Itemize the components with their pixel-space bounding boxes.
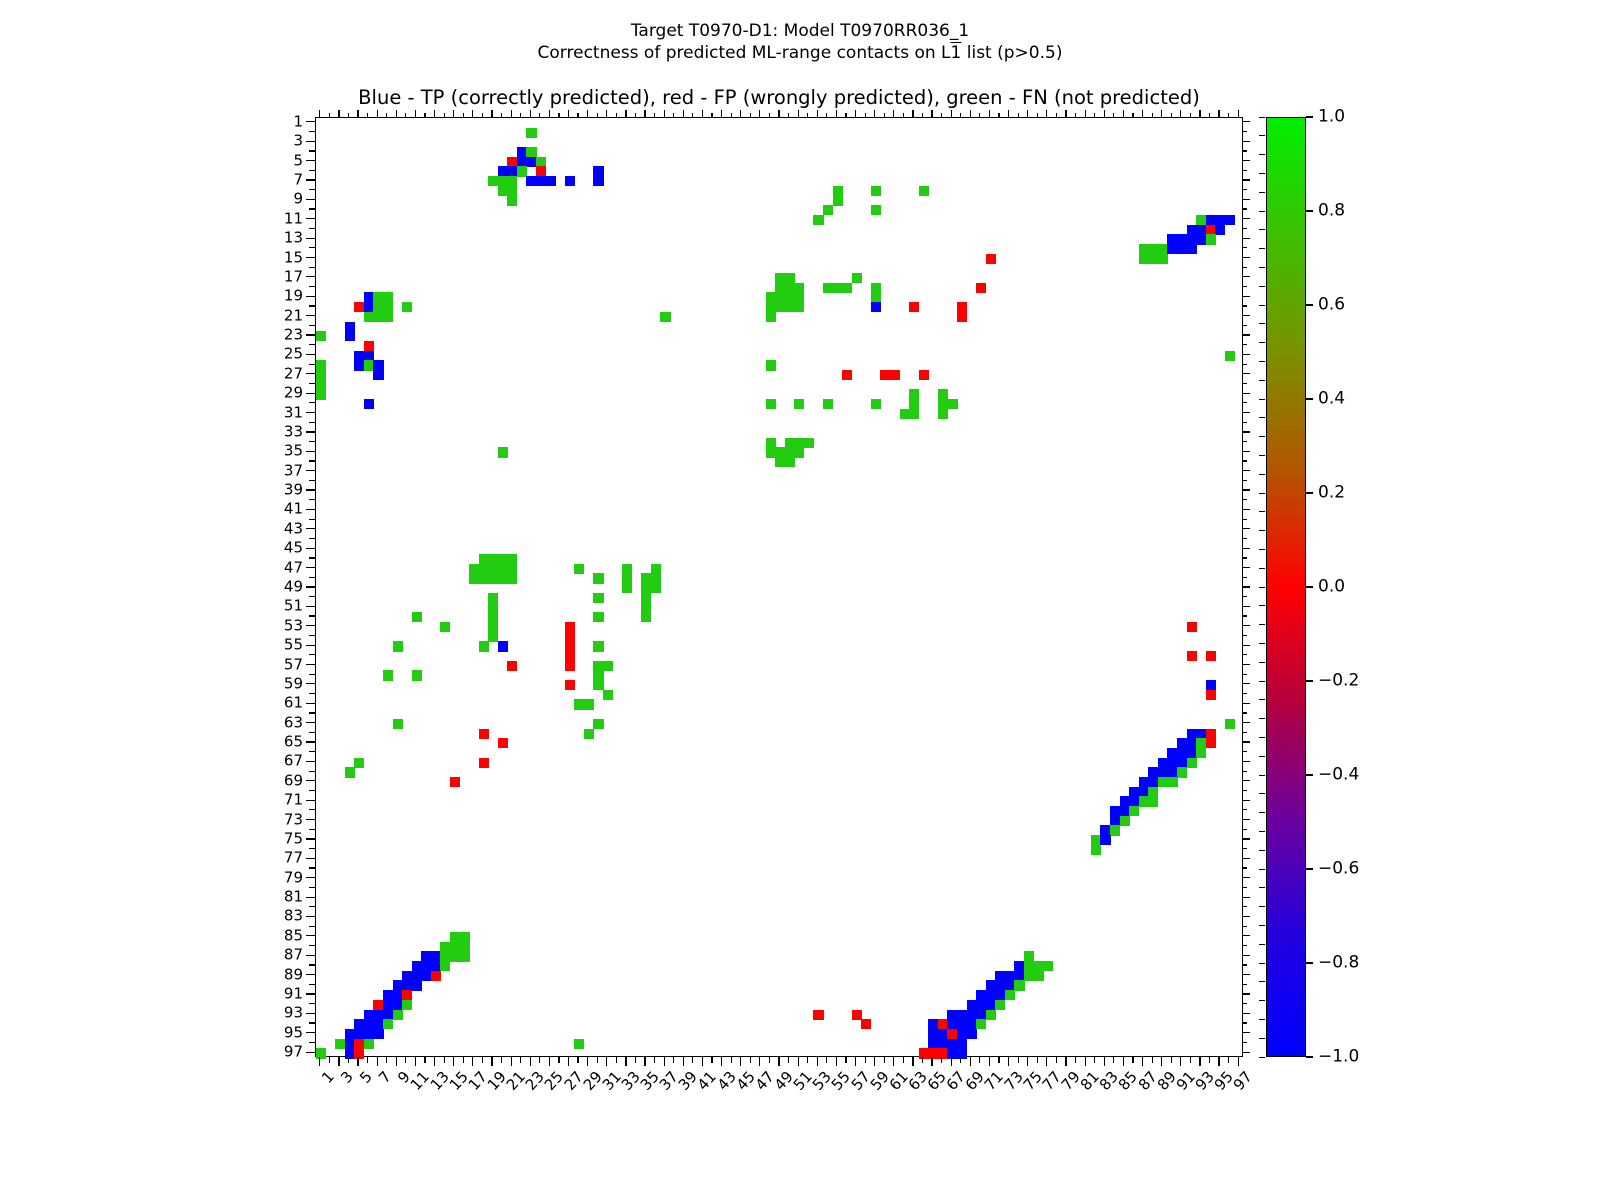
contact-cell-fn xyxy=(766,312,776,322)
contact-cell-fp xyxy=(507,661,517,671)
x-tick-top-28 xyxy=(577,113,578,117)
y-tick-right-23 xyxy=(1243,334,1250,335)
x-tick-top-34 xyxy=(635,113,636,117)
contact-cell-fp xyxy=(565,680,575,690)
contact-cell-fn xyxy=(1148,796,1158,806)
x-tick-top-94 xyxy=(1209,113,1210,117)
colorbar-minor-tick-6 xyxy=(1259,173,1265,174)
contact-cell-fp xyxy=(976,283,986,293)
contact-cell-tp xyxy=(1187,244,1197,254)
y-tick-right-11 xyxy=(1243,218,1250,219)
x-tick-top-37 xyxy=(664,110,665,117)
y-tick-right-45 xyxy=(1243,548,1250,549)
y-tick-label-65: 65 xyxy=(284,735,303,750)
x-tick-top-9 xyxy=(396,110,397,117)
y-tick-53 xyxy=(306,625,315,626)
y-tick-label-21: 21 xyxy=(284,308,303,323)
y-tick-1 xyxy=(306,121,315,122)
y-tick-61 xyxy=(306,703,315,704)
contact-cell-tp xyxy=(938,1039,948,1049)
y-tick-right-50 xyxy=(1243,596,1247,597)
contact-cell-fn xyxy=(460,951,470,961)
x-tick-top-30 xyxy=(597,113,598,117)
y-tick-6 xyxy=(309,170,315,171)
x-tick-top-51 xyxy=(798,110,799,117)
x-tick-62 xyxy=(903,1057,904,1063)
contact-cell-tp xyxy=(345,322,355,332)
contact-cell-tp xyxy=(957,1039,967,1049)
y-tick-52 xyxy=(309,615,315,616)
x-tick-25 xyxy=(549,1057,550,1066)
y-tick-41 xyxy=(306,509,315,510)
x-tick-20 xyxy=(501,1057,502,1063)
contact-cell-fn xyxy=(1167,777,1177,787)
y-tick-15 xyxy=(306,257,315,258)
x-tick-top-21 xyxy=(511,110,512,117)
x-tick-1 xyxy=(319,1057,320,1066)
x-tick-top-10 xyxy=(405,113,406,117)
y-tick-label-91: 91 xyxy=(284,987,303,1002)
x-tick-top-74 xyxy=(1018,113,1019,117)
x-tick-top-48 xyxy=(769,113,770,117)
colorbar-minor-tick-58 xyxy=(1259,662,1265,663)
x-tick-93 xyxy=(1199,1057,1200,1066)
x-tick-top-20 xyxy=(501,113,502,117)
contact-cell-fp xyxy=(354,1048,364,1058)
y-tick-right-40 xyxy=(1243,499,1247,500)
contact-cell-fn xyxy=(976,1019,986,1029)
x-tick-top-88 xyxy=(1152,113,1153,117)
y-tick-right-63 xyxy=(1243,722,1250,723)
y-tick-right-69 xyxy=(1243,780,1250,781)
colorbar-tick-5 xyxy=(1306,586,1313,587)
y-tick-right-34 xyxy=(1243,441,1247,442)
y-tick-76 xyxy=(309,848,315,849)
contact-cell-fn xyxy=(345,767,355,777)
x-tick-top-79 xyxy=(1065,110,1066,117)
x-tick-60 xyxy=(884,1057,885,1063)
y-tick-right-53 xyxy=(1243,625,1250,626)
x-tick-top-97 xyxy=(1238,110,1239,117)
contact-cell-tp xyxy=(957,1048,967,1058)
colorbar-tick-label-8: −0.6 xyxy=(1318,861,1359,878)
contact-cell-fn xyxy=(938,399,948,409)
x-tick-top-27 xyxy=(568,110,569,117)
x-tick-55 xyxy=(836,1057,837,1066)
x-tick-9 xyxy=(396,1057,397,1066)
y-tick-36 xyxy=(309,460,315,461)
contact-cell-fn xyxy=(479,554,489,564)
contact-cell-fn xyxy=(479,641,489,651)
y-tick-right-79 xyxy=(1243,877,1250,878)
contact-cell-fn xyxy=(641,583,651,593)
contact-cell-fn xyxy=(1120,816,1130,826)
y-tick-46 xyxy=(309,557,315,558)
y-tick-57 xyxy=(306,664,315,665)
x-tick-top-78 xyxy=(1056,113,1057,117)
contact-cell-fn xyxy=(383,670,393,680)
x-tick-top-85 xyxy=(1123,110,1124,117)
y-tick-right-86 xyxy=(1243,945,1247,946)
y-tick-87 xyxy=(306,955,315,956)
contact-cell-tp xyxy=(1215,225,1225,235)
y-tick-label-97: 97 xyxy=(284,1045,303,1060)
colorbar-minor-tick-4 xyxy=(1259,154,1265,155)
x-tick-38 xyxy=(673,1057,674,1063)
contact-cell-fn xyxy=(1014,980,1024,990)
y-tick-38 xyxy=(309,480,315,481)
y-tick-right-27 xyxy=(1243,373,1250,374)
x-tick-96 xyxy=(1228,1057,1229,1063)
contact-cell-fn xyxy=(488,593,498,603)
contact-cell-fn xyxy=(871,399,881,409)
contact-cell-fn xyxy=(622,564,632,574)
y-tick-label-57: 57 xyxy=(284,657,303,672)
contact-cell-fn xyxy=(584,699,594,709)
x-tick-top-38 xyxy=(673,113,674,117)
x-tick-top-39 xyxy=(683,110,684,117)
colorbar-minor-tick-22 xyxy=(1259,323,1265,324)
colorbar-minor-tick-12 xyxy=(1259,229,1265,230)
contact-cell-fn xyxy=(383,1019,393,1029)
x-tick-11 xyxy=(415,1057,416,1066)
colorbar-minor-tick-98 xyxy=(1259,1038,1265,1039)
x-tick-79 xyxy=(1065,1057,1066,1066)
x-tick-30 xyxy=(597,1057,598,1063)
colorbar-minor-tick-28 xyxy=(1259,380,1265,381)
contact-cell-fn xyxy=(603,690,613,700)
y-tick-54 xyxy=(309,635,315,636)
contact-cell-fn xyxy=(383,302,393,312)
x-tick-top-13 xyxy=(434,110,435,117)
contact-cell-fn xyxy=(440,942,450,952)
y-tick-20 xyxy=(309,305,315,306)
contact-cell-fn xyxy=(593,670,603,680)
y-tick-39 xyxy=(306,489,315,490)
contact-cell-fn xyxy=(1043,961,1053,971)
figure-canvas: Target T0970-D1: Model T0970RR036_1 Corr… xyxy=(0,0,1600,1200)
colorbar-minor-tick-78 xyxy=(1259,850,1265,851)
y-tick-label-15: 15 xyxy=(284,250,303,265)
colorbar-tick-3 xyxy=(1306,398,1313,399)
y-tick-right-10 xyxy=(1243,208,1247,209)
figure-title-line2: Correctness of predicted ML-range contac… xyxy=(0,42,1600,64)
y-tick-label-13: 13 xyxy=(284,231,303,246)
colorbar-minor-tick-2 xyxy=(1259,135,1265,136)
contact-cell-fp xyxy=(565,661,575,671)
y-tick-12 xyxy=(309,228,315,229)
title-line2-overline-L: 1 xyxy=(951,43,962,63)
y-tick-label-51: 51 xyxy=(284,599,303,614)
y-tick-right-21 xyxy=(1243,315,1250,316)
x-tick-top-93 xyxy=(1199,110,1200,117)
contact-cell-fn xyxy=(1158,254,1168,264)
x-tick-top-53 xyxy=(817,110,818,117)
contact-cell-fn xyxy=(1129,806,1139,816)
y-tick-right-30 xyxy=(1243,402,1247,403)
contact-cell-fn xyxy=(479,564,489,574)
contact-cell-fn xyxy=(775,283,785,293)
x-tick-top-70 xyxy=(979,113,980,117)
y-tick-label-73: 73 xyxy=(284,812,303,827)
y-tick-right-82 xyxy=(1243,906,1247,907)
colorbar-minor-tick-40 xyxy=(1259,493,1265,494)
y-tick-right-48 xyxy=(1243,577,1247,578)
contact-cell-tp xyxy=(364,351,374,361)
y-tick-right-93 xyxy=(1243,1013,1250,1014)
contact-cell-fn xyxy=(393,1010,403,1020)
y-tick-right-17 xyxy=(1243,276,1250,277)
contact-cell-fp xyxy=(919,370,929,380)
contact-cell-tp xyxy=(1177,234,1187,244)
colorbar-tick-6 xyxy=(1306,680,1313,681)
x-tick-top-77 xyxy=(1046,110,1047,117)
contact-cell-fn xyxy=(507,196,517,206)
contact-cell-tp xyxy=(1100,835,1110,845)
contact-cell-fn xyxy=(766,360,776,370)
x-tick-top-16 xyxy=(463,113,464,117)
x-tick-39 xyxy=(683,1057,684,1066)
x-tick-top-35 xyxy=(644,110,645,117)
y-tick-right-39 xyxy=(1243,489,1250,490)
y-tick-right-66 xyxy=(1243,751,1247,752)
contact-cell-tp xyxy=(967,1029,977,1039)
x-tick-8 xyxy=(386,1057,387,1063)
contact-cell-fp xyxy=(536,166,546,176)
y-tick-right-7 xyxy=(1243,179,1250,180)
y-tick-14 xyxy=(309,247,315,248)
contact-cell-tp xyxy=(1177,748,1187,758)
y-tick-label-93: 93 xyxy=(284,1006,303,1021)
y-tick-right-60 xyxy=(1243,693,1247,694)
y-tick-right-3 xyxy=(1243,141,1250,142)
colorbar-minor-tick-66 xyxy=(1259,737,1265,738)
contact-cell-fn xyxy=(794,283,804,293)
x-tick-15 xyxy=(453,1057,454,1066)
contact-cell-fn xyxy=(507,573,517,583)
x-tick-76 xyxy=(1037,1057,1038,1063)
contact-cell-fn xyxy=(383,312,393,322)
x-tick-top-43 xyxy=(721,110,722,117)
y-tick-right-71 xyxy=(1243,800,1250,801)
colorbar-minor-tick-94 xyxy=(1259,1000,1265,1001)
x-tick-54 xyxy=(826,1057,827,1063)
contact-cell-fn xyxy=(938,409,948,419)
contact-cell-fn xyxy=(641,603,651,613)
contact-cell-fp xyxy=(507,157,517,167)
x-tick-52 xyxy=(807,1057,808,1063)
colorbar-tick-1 xyxy=(1306,210,1313,211)
y-tick-label-41: 41 xyxy=(284,502,303,517)
contact-cell-fn xyxy=(1206,234,1216,244)
contact-cell-fn xyxy=(393,641,403,651)
y-tick-label-59: 59 xyxy=(284,676,303,691)
x-tick-72 xyxy=(998,1057,999,1063)
x-tick-2 xyxy=(329,1057,330,1063)
colorbar-minor-tick-10 xyxy=(1259,211,1265,212)
contact-cell-fn xyxy=(995,1000,1005,1010)
contact-cell-fn xyxy=(775,292,785,302)
y-tick-right-91 xyxy=(1243,993,1250,994)
contact-cell-fp xyxy=(565,632,575,642)
contact-cell-fn xyxy=(593,573,603,583)
y-tick-label-27: 27 xyxy=(284,366,303,381)
y-tick-78 xyxy=(309,867,315,868)
colorbar-tick-label-10: −1.0 xyxy=(1318,1049,1359,1066)
x-tick-43 xyxy=(721,1057,722,1066)
colorbar-tick-label-3: 0.4 xyxy=(1318,391,1345,408)
contact-cell-fn xyxy=(641,612,651,622)
y-tick-4 xyxy=(309,150,315,151)
colorbar-minor-tick-68 xyxy=(1259,756,1265,757)
x-tick-top-17 xyxy=(472,110,473,117)
y-tick-83 xyxy=(306,916,315,917)
contact-cell-fp xyxy=(479,729,489,739)
contact-cell-fn xyxy=(593,612,603,622)
y-tick-11 xyxy=(306,218,315,219)
y-tick-right-65 xyxy=(1243,741,1250,742)
contact-cell-fn xyxy=(1225,719,1235,729)
x-tick-23 xyxy=(530,1057,531,1066)
x-tick-61 xyxy=(893,1057,894,1066)
y-tick-right-25 xyxy=(1243,354,1250,355)
x-tick-87 xyxy=(1142,1057,1143,1066)
colorbar-minor-tick-38 xyxy=(1259,474,1265,475)
y-tick-right-28 xyxy=(1243,383,1247,384)
contact-cell-fn xyxy=(507,176,517,186)
contact-cell-tp xyxy=(1225,215,1235,225)
contact-cell-tp xyxy=(1005,980,1015,990)
y-tick-75 xyxy=(306,838,315,839)
contact-cell-fn xyxy=(766,438,776,448)
contact-cell-tp xyxy=(1110,806,1120,816)
x-tick-top-69 xyxy=(970,110,971,117)
contact-cell-fn xyxy=(651,583,661,593)
colorbar-minor-tick-82 xyxy=(1259,887,1265,888)
colorbar-minor-tick-34 xyxy=(1259,436,1265,437)
y-tick-right-36 xyxy=(1243,460,1247,461)
contact-cell-fn xyxy=(526,147,536,157)
colorbar-minor-tick-50 xyxy=(1259,587,1265,588)
x-tick-73 xyxy=(1008,1057,1009,1066)
y-tick-right-67 xyxy=(1243,761,1250,762)
contact-cell-tp xyxy=(412,980,422,990)
contact-map-plot[interactable] xyxy=(315,117,1243,1057)
y-tick-56 xyxy=(309,654,315,655)
contact-cell-fn xyxy=(813,215,823,225)
y-tick-label-45: 45 xyxy=(284,541,303,556)
x-tick-top-46 xyxy=(750,113,751,117)
contact-map-cells xyxy=(316,118,1242,1056)
contact-cell-fp xyxy=(1206,690,1216,700)
y-tick-right-95 xyxy=(1243,1032,1250,1033)
x-tick-top-72 xyxy=(998,113,999,117)
colorbar-tick-10 xyxy=(1306,1056,1313,1057)
x-tick-top-52 xyxy=(807,113,808,117)
y-tick-24 xyxy=(309,344,315,345)
y-tick-42 xyxy=(309,519,315,520)
y-tick-right-38 xyxy=(1243,480,1247,481)
contact-cell-fp xyxy=(450,777,460,787)
x-tick-78 xyxy=(1056,1057,1057,1063)
contact-cell-fn xyxy=(1225,351,1235,361)
x-tick-44 xyxy=(731,1057,732,1063)
y-tick-31 xyxy=(306,412,315,413)
figure-title: Target T0970-D1: Model T0970RR036_1 Corr… xyxy=(0,20,1600,64)
x-tick-top-23 xyxy=(530,110,531,117)
x-tick-top-5 xyxy=(357,110,358,117)
contact-cell-fn xyxy=(593,680,603,690)
x-tick-top-82 xyxy=(1094,113,1095,117)
colorbar-tick-4 xyxy=(1306,492,1313,493)
x-tick-top-15 xyxy=(453,110,454,117)
contact-cell-tp xyxy=(938,1029,948,1039)
x-tick-49 xyxy=(778,1057,779,1066)
y-tick-81 xyxy=(306,897,315,898)
contact-cell-fp xyxy=(364,341,374,351)
y-tick-label-63: 63 xyxy=(284,715,303,730)
y-tick-right-74 xyxy=(1243,829,1247,830)
contact-cell-fn xyxy=(316,331,326,341)
colorbar-tick-7 xyxy=(1306,774,1313,775)
y-tick-right-6 xyxy=(1243,170,1247,171)
y-tick-94 xyxy=(309,1022,315,1023)
y-tick-right-75 xyxy=(1243,838,1250,839)
contact-cell-fn xyxy=(1091,845,1101,855)
contact-cell-fn xyxy=(412,670,422,680)
contact-cell-fn xyxy=(794,302,804,312)
x-tick-top-62 xyxy=(903,113,904,117)
colorbar-tick-label-9: −0.8 xyxy=(1318,955,1359,972)
x-tick-top-24 xyxy=(539,113,540,117)
contact-cell-fn xyxy=(641,593,651,603)
y-tick-label-71: 71 xyxy=(284,793,303,808)
y-tick-right-35 xyxy=(1243,451,1250,452)
x-tick-top-64 xyxy=(922,113,923,117)
y-tick-label-75: 75 xyxy=(284,831,303,846)
y-tick-label-3: 3 xyxy=(293,134,303,149)
x-tick-19 xyxy=(491,1057,492,1066)
x-tick-82 xyxy=(1094,1057,1095,1063)
y-tick-label-1: 1 xyxy=(293,114,303,129)
contact-cell-fn xyxy=(412,612,422,622)
contact-cell-fn xyxy=(833,196,843,206)
contact-cell-fn xyxy=(766,399,776,409)
y-tick-right-80 xyxy=(1243,887,1247,888)
y-tick-30 xyxy=(309,402,315,403)
x-tick-top-49 xyxy=(778,110,779,117)
x-tick-top-54 xyxy=(826,113,827,117)
contact-cell-tp xyxy=(345,1029,355,1039)
x-tick-91 xyxy=(1180,1057,1181,1066)
colorbar-minor-tick-42 xyxy=(1259,511,1265,512)
y-tick-right-44 xyxy=(1243,538,1247,539)
x-tick-top-59 xyxy=(874,110,875,117)
y-tick-3 xyxy=(306,141,315,142)
contact-cell-tp xyxy=(1110,816,1120,826)
x-tick-45 xyxy=(740,1057,741,1066)
colorbar-minor-tick-44 xyxy=(1259,530,1265,531)
y-tick-64 xyxy=(309,732,315,733)
x-tick-18 xyxy=(482,1057,483,1063)
axes-title-legend: Blue - TP (correctly predicted), red - F… xyxy=(315,86,1243,109)
contact-cell-tp xyxy=(871,302,881,312)
y-tick-right-42 xyxy=(1243,519,1247,520)
y-tick-13 xyxy=(306,238,315,239)
contact-cell-fn xyxy=(316,389,326,399)
x-tick-top-87 xyxy=(1142,110,1143,117)
contact-cell-fn xyxy=(536,157,546,167)
